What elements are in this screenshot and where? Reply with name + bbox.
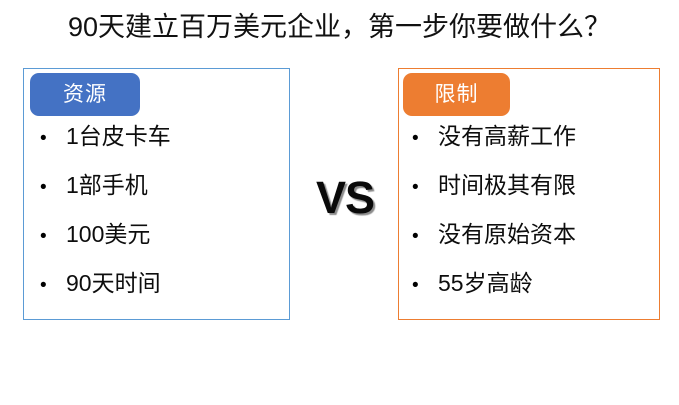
bullet-icon: • <box>412 129 438 148</box>
list-item-label: 1台皮卡车 <box>66 125 171 148</box>
bullet-icon: • <box>40 129 66 148</box>
list-item-label: 55岁高龄 <box>438 272 533 295</box>
list-item: • 90天时间 <box>24 272 289 321</box>
page-title: 90天建立百万美元企业，第一步你要做什么？ <box>0 8 679 46</box>
limits-badge: 限制 <box>403 73 510 116</box>
bullet-icon: • <box>412 276 438 295</box>
list-item-label: 100美元 <box>66 223 150 246</box>
list-item-label: 时间极其有限 <box>438 174 576 197</box>
list-item: • 1部手机 <box>24 174 289 223</box>
list-item: • 没有高薪工作 <box>399 125 659 174</box>
list-item-label: 没有原始资本 <box>438 223 576 246</box>
bullet-icon: • <box>40 227 66 246</box>
list-item-label: 1部手机 <box>66 174 148 197</box>
limits-list: • 没有高薪工作 • 时间极其有限 • 没有原始资本 • 55岁高龄 <box>399 125 659 321</box>
vs-divider-label: VS <box>305 170 385 226</box>
resources-badge-label: 资源 <box>63 84 107 105</box>
resources-list: • 1台皮卡车 • 1部手机 • 100美元 • 90天时间 <box>24 125 289 321</box>
list-item: • 100美元 <box>24 223 289 272</box>
list-item-label: 没有高薪工作 <box>438 125 576 148</box>
list-item: • 1台皮卡车 <box>24 125 289 174</box>
list-item-label: 90天时间 <box>66 272 161 295</box>
limits-panel: 限制 • 没有高薪工作 • 时间极其有限 • 没有原始资本 • 55岁高龄 <box>398 68 660 320</box>
list-item: • 时间极其有限 <box>399 174 659 223</box>
resources-badge: 资源 <box>30 73 140 116</box>
bullet-icon: • <box>412 178 438 197</box>
list-item: • 没有原始资本 <box>399 223 659 272</box>
bullet-icon: • <box>40 276 66 295</box>
limits-badge-label: 限制 <box>435 84 479 105</box>
bullet-icon: • <box>40 178 66 197</box>
bullet-icon: • <box>412 227 438 246</box>
list-item: • 55岁高龄 <box>399 272 659 321</box>
resources-panel: 资源 • 1台皮卡车 • 1部手机 • 100美元 • 90天时间 <box>23 68 290 320</box>
